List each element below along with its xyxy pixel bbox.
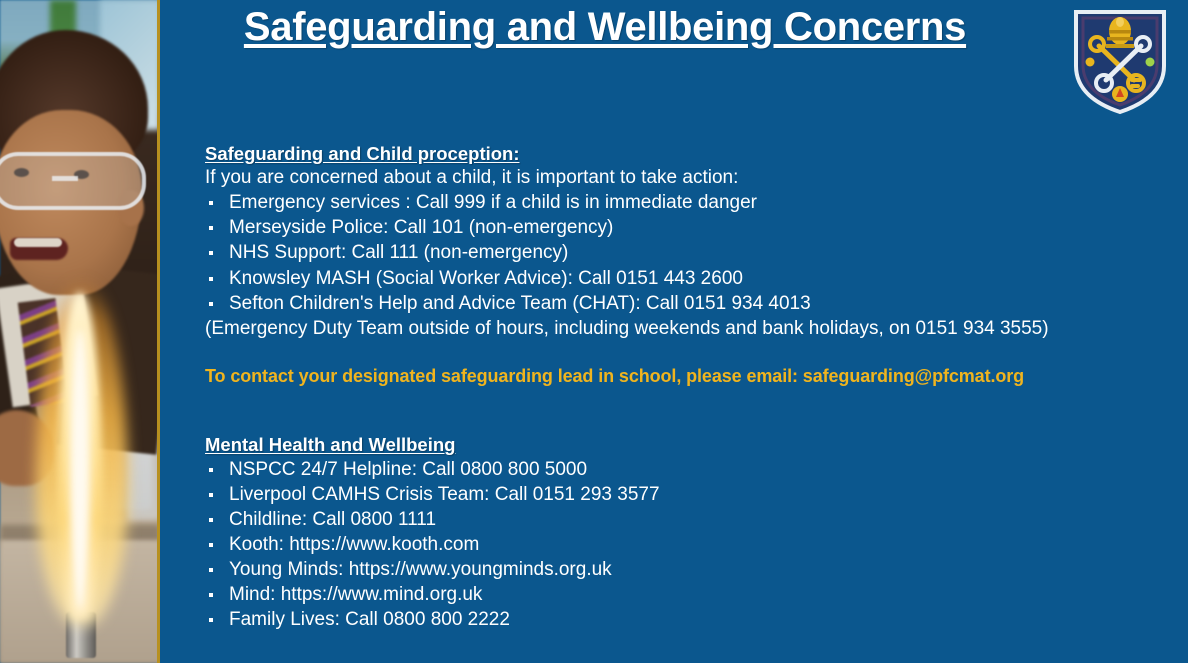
safety-goggles (0, 152, 146, 210)
list-item[interactable]: Young Minds: https://www.youngminds.org.… (205, 558, 1165, 582)
list-item-label[interactable]: Kooth: https://www.kooth.com (229, 534, 479, 555)
list-item: Knowsley MASH (Social Worker Advice): Ca… (205, 267, 1165, 291)
safeguarding-slide: Safeguarding and Wellbeing Concerns (0, 0, 1188, 663)
flame-core (70, 330, 90, 610)
list-item: NHS Support: Call 111 (non-emergency) (205, 241, 1165, 265)
list-item-label: Emergency services : Call 999 if a child… (229, 192, 757, 213)
list-item-label: Childline: Call 0800 1111 (229, 509, 436, 530)
school-crest (1068, 4, 1172, 116)
goggles-bridge (52, 176, 78, 181)
emergency-duty-team-note: (Emergency Duty Team outside of hours, i… (205, 317, 1165, 341)
section-safeguarding: Safeguarding and Child proception: If yo… (205, 142, 1165, 341)
designated-safeguarding-lead-email[interactable]: To contact your designated safeguarding … (205, 365, 1165, 388)
list-item-label: Knowsley MASH (Social Worker Advice): Ca… (229, 268, 743, 289)
list-item[interactable]: Kooth: https://www.kooth.com (205, 533, 1165, 557)
section-heading-safeguarding: Safeguarding and Child proception: (205, 142, 1165, 165)
list-item: Childline: Call 0800 1111 (205, 508, 1165, 532)
list-item-label[interactable]: Mind: https://www.mind.org.uk (229, 584, 482, 605)
student-teeth (14, 238, 62, 247)
list-item-label: Merseyside Police: Call 101 (non-emergen… (229, 217, 613, 238)
list-item-label: NSPCC 24/7 Helpline: Call 0800 800 5000 (229, 459, 587, 480)
safeguarding-intro: If you are concerned about a child, it i… (205, 166, 1165, 190)
list-item[interactable]: Mind: https://www.mind.org.uk (205, 583, 1165, 607)
list-item-label: Family Lives: Call 0800 800 2222 (229, 609, 510, 630)
list-item-label: Liverpool CAMHS Crisis Team: Call 0151 2… (229, 484, 660, 505)
list-item: Family Lives: Call 0800 800 2222 (205, 608, 1165, 632)
list-item-label: NHS Support: Call 111 (non-emergency) (229, 242, 568, 263)
safeguarding-contact-list: Emergency services : Call 999 if a child… (205, 191, 1165, 315)
school-crest-icon (1068, 4, 1172, 116)
content-body: Safeguarding and Child proception: If yo… (205, 142, 1165, 633)
list-item-label: Sefton Children's Help and Advice Team (… (229, 293, 811, 314)
science-lesson-photo (0, 0, 160, 663)
mental-health-contact-list: NSPCC 24/7 Helpline: Call 0800 800 5000 … (205, 458, 1165, 632)
list-item-label[interactable]: Young Minds: https://www.youngminds.org.… (229, 559, 612, 580)
section-heading-mental-health: Mental Health and Wellbeing (205, 433, 1165, 456)
list-item: Sefton Children's Help and Advice Team (… (205, 292, 1165, 316)
page-title: Safeguarding and Wellbeing Concerns (190, 6, 1020, 49)
list-item: Emergency services : Call 999 if a child… (205, 191, 1165, 215)
list-item: NSPCC 24/7 Helpline: Call 0800 800 5000 (205, 458, 1165, 482)
list-item: Liverpool CAMHS Crisis Team: Call 0151 2… (205, 483, 1165, 507)
list-item: Merseyside Police: Call 101 (non-emergen… (205, 216, 1165, 240)
section-mental-health: Mental Health and Wellbeing NSPCC 24/7 H… (205, 433, 1165, 632)
